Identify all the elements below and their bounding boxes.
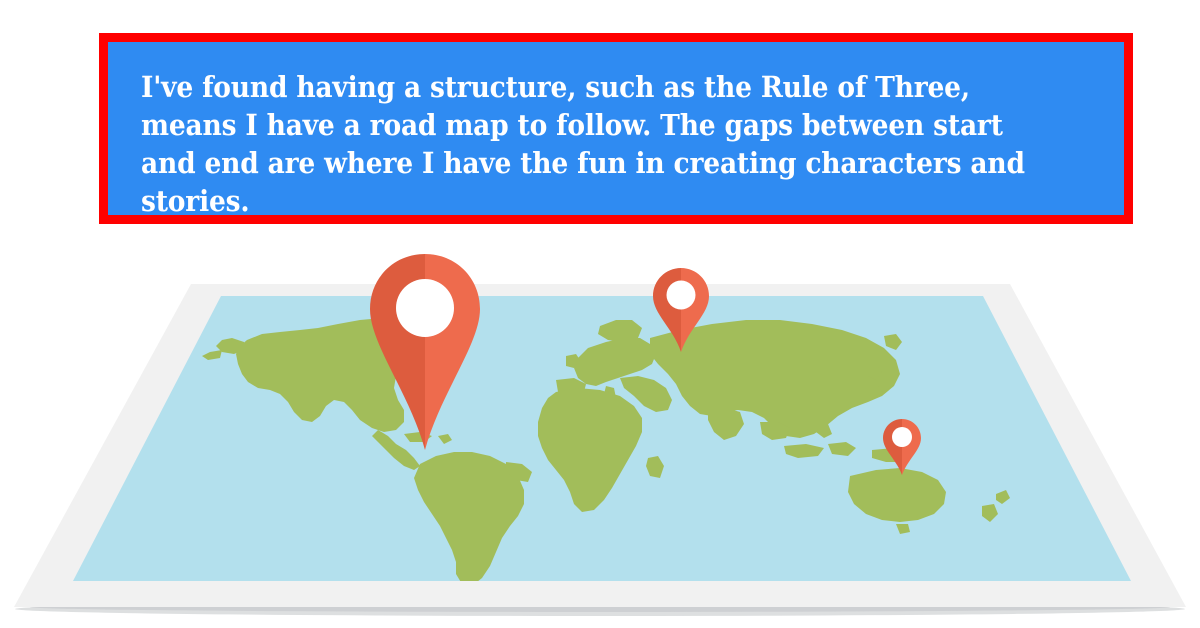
map-pin-oceania[interactable] (883, 419, 921, 475)
map-pin-americas[interactable] (370, 254, 480, 450)
pin-right-half (681, 268, 709, 352)
pin-inner-circle (892, 427, 912, 447)
quote-card: I've found having a structure, such as t… (99, 33, 1133, 224)
pin-inner-circle (396, 279, 454, 337)
world-map-illustration (0, 250, 1200, 628)
quote-card-inner: I've found having a structure, such as t… (108, 42, 1124, 215)
pin-inner-circle (667, 281, 696, 310)
pin-left-half (653, 268, 681, 352)
pin-left-half (883, 419, 902, 475)
pin-right-half (902, 419, 921, 475)
quote-text: I've found having a structure, such as t… (141, 68, 1027, 220)
map-pin-europe[interactable] (653, 268, 709, 352)
